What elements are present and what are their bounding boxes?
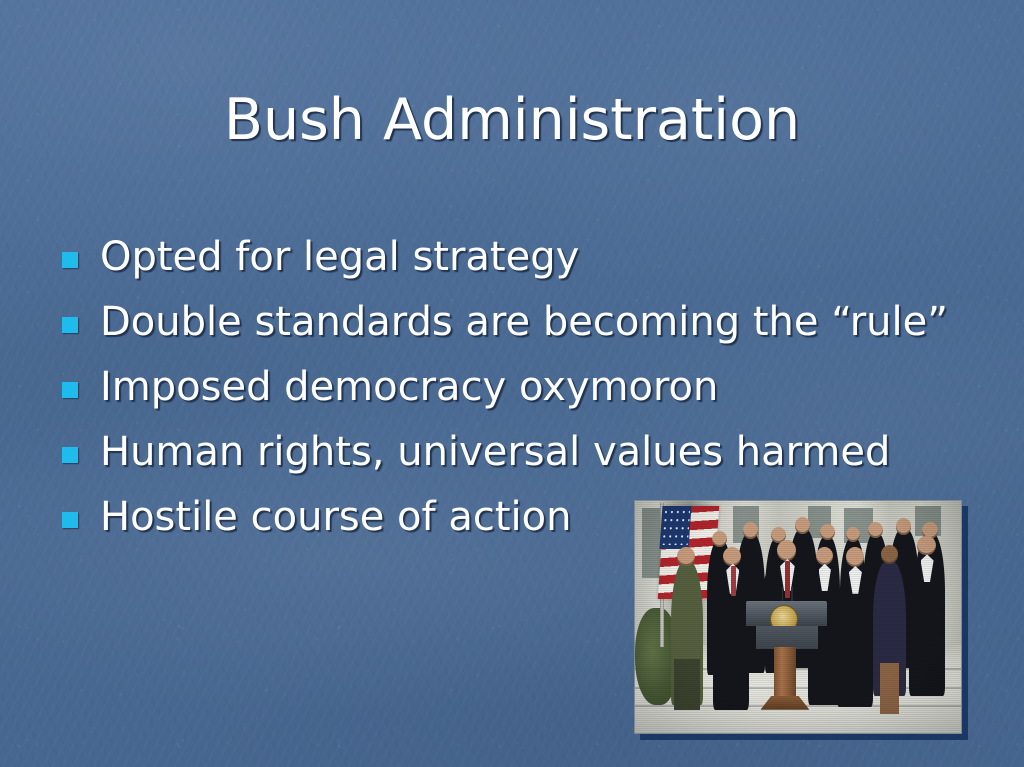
bullet-text: Human rights, universal values harmed: [100, 426, 890, 478]
square-bullet-icon: [62, 252, 78, 268]
list-item: Double standards are becoming the “rule”: [62, 296, 962, 361]
photo-vignette: [635, 501, 961, 733]
list-item: Imposed democracy oxymoron: [62, 361, 962, 426]
bullet-text: Hostile course of action: [100, 491, 571, 543]
bullet-text: Opted for legal strategy: [100, 231, 579, 283]
presentation-slide: Bush Administration Opted for legal stra…: [0, 0, 1024, 767]
list-item: Opted for legal strategy: [62, 231, 962, 296]
slide-photo: [634, 500, 968, 740]
square-bullet-icon: [62, 382, 78, 398]
square-bullet-icon: [62, 317, 78, 333]
list-item: Human rights, universal values harmed: [62, 426, 962, 491]
square-bullet-icon: [62, 447, 78, 463]
bullet-text: Imposed democracy oxymoron: [100, 361, 718, 413]
photo-image: [634, 500, 962, 734]
slide-title: Bush Administration: [0, 88, 1024, 152]
bullet-text: Double standards are becoming the “rule”: [100, 296, 948, 348]
square-bullet-icon: [62, 512, 78, 528]
